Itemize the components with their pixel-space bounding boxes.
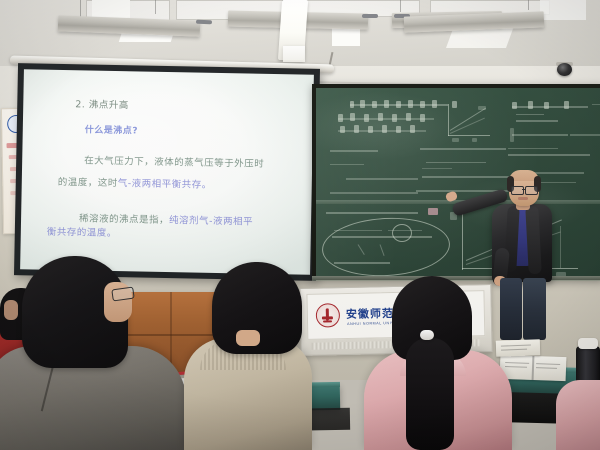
chalk-writing	[564, 101, 569, 109]
textbook-line	[505, 366, 527, 368]
chalk-writing	[512, 106, 588, 108]
chalk-writing	[544, 102, 549, 109]
chalk-diagram-label	[452, 138, 459, 142]
chalk-writing	[516, 120, 558, 122]
chalk-writing	[420, 101, 425, 108]
chalk-graph-gridline	[560, 226, 561, 268]
chalk-diagram-label	[478, 106, 486, 110]
slide-para1-line2a: 的温度，这时	[58, 177, 118, 189]
chalk-writing	[334, 262, 390, 264]
chalk-writing	[340, 126, 345, 133]
chalk-writing-pink	[428, 208, 438, 215]
classroom-photo: 2. 沸点升高 什么是沸点? 在大气压力下，液体的蒸气压等于外压时 的温度，这时…	[0, 0, 600, 450]
student-far-right-sleeve	[556, 380, 600, 450]
chalk-writing	[406, 113, 411, 121]
chalk-writing	[422, 176, 518, 178]
light-diffuser	[283, 46, 305, 62]
light-hanger-wire	[155, 0, 156, 14]
student-neck	[236, 330, 260, 346]
student-face-edge	[4, 300, 18, 320]
chalk-writing	[392, 114, 397, 122]
student-ponytail	[406, 338, 454, 450]
slide-para2-line1b: 纯溶剂气-液两相平	[169, 215, 253, 228]
chalk-writing	[360, 100, 365, 108]
chalk-writing	[346, 178, 418, 180]
seal-detail	[322, 316, 333, 319]
chalk-graph-y-axis	[462, 208, 463, 270]
hair-tie	[420, 330, 434, 340]
chalk-diagram-axis	[448, 104, 449, 136]
slide-para1-line1: 在大气压力下，液体的蒸气压等于外压时	[84, 152, 264, 169]
chalk-writing	[330, 192, 418, 194]
paper-line	[501, 349, 527, 351]
chalk-integral-sign	[510, 128, 514, 142]
chalk-writing	[378, 113, 383, 121]
chalk-writing	[452, 101, 457, 108]
chalk-writing	[408, 100, 413, 108]
teacher-leg	[523, 278, 546, 340]
chalk-writing	[332, 236, 432, 238]
university-seal-icon	[316, 303, 340, 327]
chalk-diagram-axis	[448, 135, 490, 136]
slide-question: 什么是沸点?	[85, 122, 138, 136]
chalk-writing	[592, 104, 600, 105]
chalk-writing	[516, 114, 544, 115]
chalk-writing	[570, 134, 600, 136]
teacher-glasses-bridge	[522, 189, 525, 190]
teacher-glasses	[511, 186, 524, 195]
slide-para2-line2: 衡共存的温度。	[47, 224, 117, 239]
chalk-diagram-label	[472, 138, 477, 142]
chalk-tray	[312, 276, 600, 281]
chalk-oval-highlight	[321, 215, 452, 276]
chalk-writing	[384, 100, 389, 108]
chalk-writing	[410, 125, 415, 133]
chalk-writing	[508, 154, 590, 156]
chalk-writing	[330, 150, 378, 152]
light-joint	[362, 14, 378, 18]
slide-title: 2. 沸点升高	[75, 96, 129, 111]
dome-camera-icon	[557, 63, 572, 76]
cabinet-seam	[124, 334, 224, 336]
slide-para1-line2b: 气-液两相平衡共存。	[118, 178, 212, 191]
chalk-writing	[396, 126, 401, 133]
chalk-writing	[350, 101, 354, 108]
chalk-writing	[508, 148, 558, 149]
textbook-spine	[532, 356, 534, 380]
chalk-writing	[420, 148, 506, 150]
chalk-writing	[512, 102, 517, 109]
chalk-circle-annotation	[392, 224, 412, 242]
blackboard[interactable]	[316, 88, 600, 276]
teacher-leg	[500, 278, 522, 340]
ceiling-light-panel	[540, 0, 586, 20]
dark-thermos-cap	[578, 338, 598, 349]
chalk-writing	[338, 114, 343, 122]
chalk-writing	[420, 114, 425, 122]
textbook-line	[505, 362, 529, 364]
chalk-writing	[372, 101, 377, 108]
light-hanger-wire	[528, 0, 529, 10]
chalk-writing	[422, 168, 452, 169]
chalk-writing	[426, 162, 486, 163]
chalk-writing	[512, 134, 568, 136]
projection-screen[interactable]: 2. 沸点升高 什么是沸点? 在大气压力下，液体的蒸气压等于外压时 的温度，这时…	[20, 69, 314, 275]
chalk-writing	[382, 125, 387, 133]
teacher-glasses	[525, 186, 538, 195]
teacher-mouth	[518, 197, 528, 200]
paper-sheet	[496, 339, 541, 357]
chalk-writing	[350, 113, 355, 121]
chalk-writing	[528, 101, 533, 109]
textbook-line	[536, 363, 560, 365]
light-hanger-wire	[400, 0, 401, 12]
chalk-writing	[396, 101, 401, 108]
chalk-writing	[368, 126, 373, 133]
chalk-writing	[326, 212, 418, 214]
chalk-writing	[432, 100, 437, 108]
light-joint	[196, 20, 212, 25]
seal-detail	[323, 320, 332, 322]
chalk-writing	[354, 125, 359, 133]
paper-line	[501, 345, 531, 347]
chalk-writing	[364, 114, 369, 122]
open-textbook	[500, 355, 567, 381]
chalk-writing	[330, 164, 364, 165]
chalk-writing	[334, 230, 382, 231]
textbook-line	[536, 367, 557, 369]
